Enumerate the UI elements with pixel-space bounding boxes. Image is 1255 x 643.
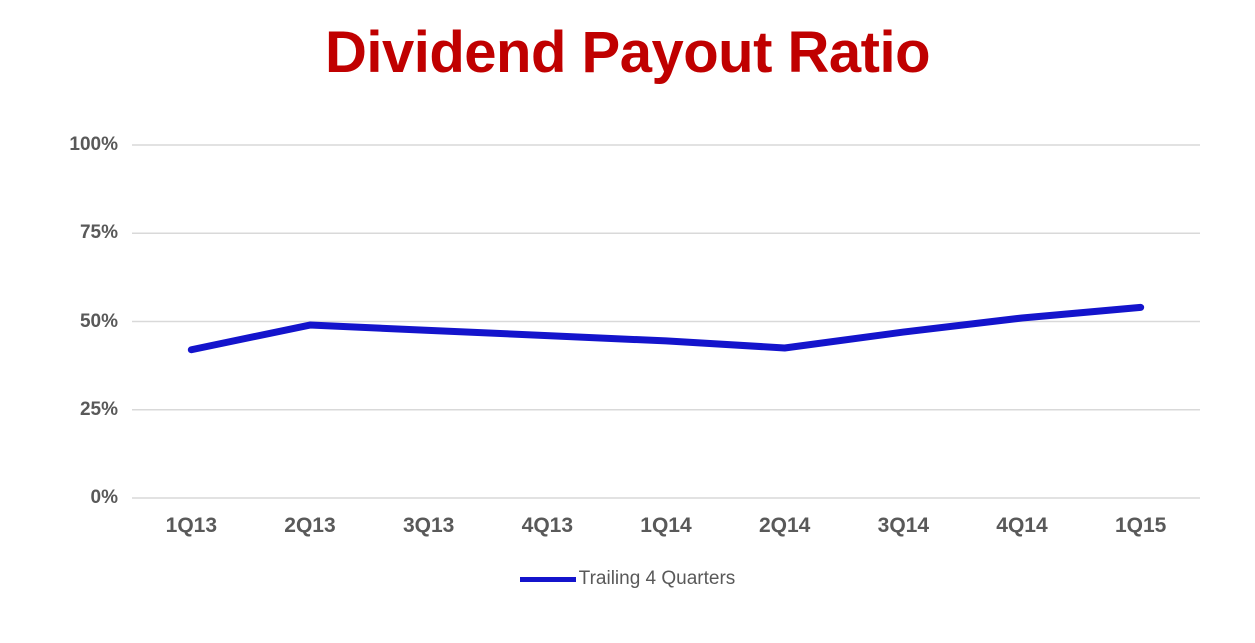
x-axis-tick-label: 4Q14 xyxy=(963,514,1082,538)
gridlines xyxy=(132,145,1200,498)
x-axis-tick-label: 3Q13 xyxy=(369,514,488,538)
series-lines xyxy=(191,307,1140,349)
plot-area xyxy=(0,0,1255,643)
y-axis-tick-label: 25% xyxy=(28,400,118,420)
x-axis-tick-label: 1Q15 xyxy=(1081,514,1200,538)
x-axis-tick-label: 2Q14 xyxy=(725,514,844,538)
x-axis-tick-label: 1Q13 xyxy=(132,514,251,538)
x-axis-tick-label: 4Q13 xyxy=(488,514,607,538)
chart-legend: Trailing 4 Quarters xyxy=(0,568,1255,590)
legend-item[interactable]: Trailing 4 Quarters xyxy=(520,568,736,590)
series-line xyxy=(191,307,1140,349)
legend-label: Trailing 4 Quarters xyxy=(579,568,736,590)
legend-line-swatch-icon xyxy=(520,577,576,582)
y-axis-tick-label: 0% xyxy=(28,488,118,508)
x-axis-tick-label: 3Q14 xyxy=(844,514,963,538)
y-axis-tick-label: 100% xyxy=(28,135,118,155)
y-axis-tick-label: 50% xyxy=(28,312,118,332)
y-axis-tick-label: 75% xyxy=(28,223,118,243)
dividend-payout-ratio-chart: Dividend Payout Ratio 0%25%50%75%100% 1Q… xyxy=(0,0,1255,643)
x-axis-tick-label: 1Q14 xyxy=(607,514,726,538)
x-axis-tick-label: 2Q13 xyxy=(251,514,370,538)
